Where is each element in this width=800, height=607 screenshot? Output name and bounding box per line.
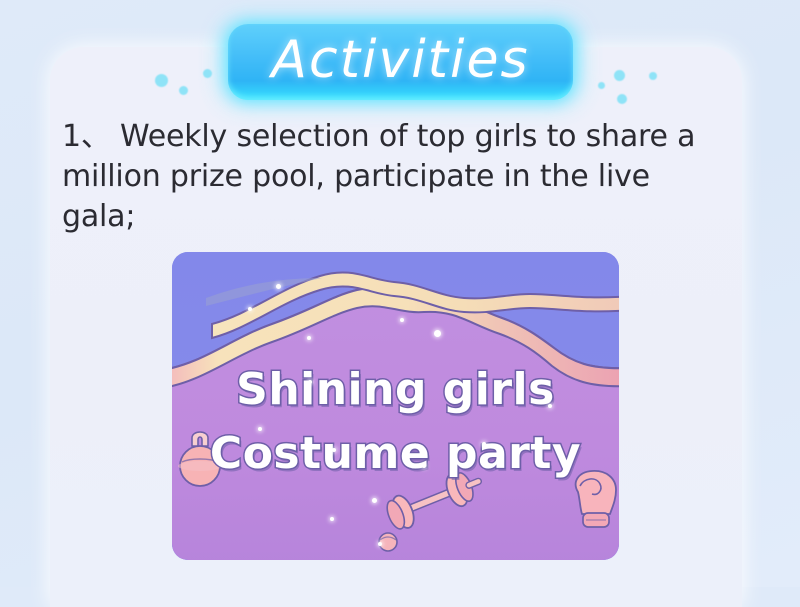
sparkle-icon xyxy=(548,404,552,408)
decorative-dot xyxy=(155,74,168,87)
activity-description: 1、 Weekly selection of top girls to shar… xyxy=(62,117,730,237)
promo-headline-line2-text: Costume party xyxy=(210,432,581,476)
sparkle-icon xyxy=(330,517,334,521)
sparkle-icon xyxy=(372,498,377,503)
sparkle-icon xyxy=(378,542,382,546)
decorative-dot xyxy=(617,94,627,104)
header: Activities xyxy=(0,0,800,125)
sparkle-icon xyxy=(482,442,486,446)
decorative-dot xyxy=(203,69,212,78)
sparkle-icon xyxy=(307,336,311,340)
sparkle-icon xyxy=(258,427,262,431)
sparkle-icon xyxy=(276,284,281,289)
decorative-dot xyxy=(614,70,625,81)
activities-banner[interactable]: Activities xyxy=(228,24,573,100)
sparkle-icon xyxy=(332,448,336,452)
sparkle-icon xyxy=(434,330,441,337)
promo-image-card[interactable]: Shining girls Costume party xyxy=(172,252,619,560)
promo-headline-line1-text: Shining girls xyxy=(236,368,555,412)
sparkle-icon xyxy=(308,380,312,384)
sparkle-icon xyxy=(422,464,426,468)
page-title: Activities xyxy=(271,34,529,90)
decorative-dot xyxy=(598,82,605,89)
decorative-dot xyxy=(179,86,188,95)
page-background: Activities 1、 Weekly selection of top gi… xyxy=(0,0,800,587)
sparkle-icon xyxy=(400,318,404,322)
sparkle-icon xyxy=(248,307,252,311)
decorative-dot xyxy=(649,72,657,80)
promo-headline-line2: Costume party xyxy=(172,432,619,476)
